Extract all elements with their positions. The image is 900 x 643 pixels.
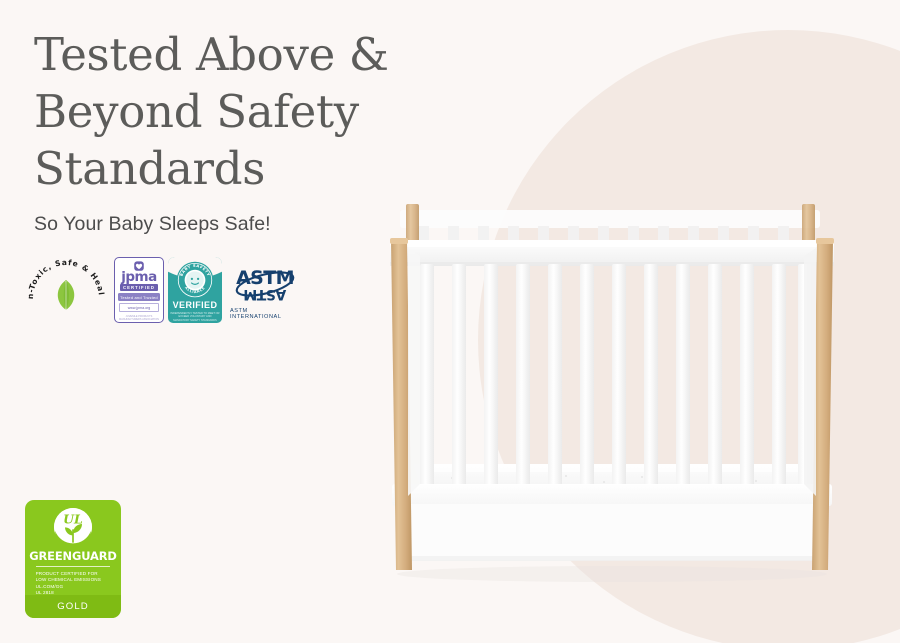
page-title: Tested Above & Beyond Safety Standards <box>34 26 454 197</box>
certification-badge-non-toxic: Non-Toxic, Safe & Healthy <box>22 250 110 329</box>
headline-block: Tested Above & Beyond Safety Standards S… <box>34 26 454 236</box>
certification-badge-row: Non-Toxic, Safe & Healthy jpma CERTIFIED… <box>22 250 300 329</box>
jpma-wordmark: jpma <box>121 271 156 284</box>
astm-caption: ASTM INTERNATIONAL <box>230 308 300 320</box>
astm-orbit-icon: ASTM ASTM <box>234 259 296 307</box>
ul-leaf-icon: UL <box>53 507 93 547</box>
greenguard-fine-print: PRODUCT CERTIFIED FOR LOW CHEMICAL EMISS… <box>36 571 111 597</box>
product-image-mini-crib <box>362 196 862 596</box>
greenguard-tier-band: GOLD <box>25 595 121 618</box>
certification-badge-astm: ASTM ASTM ASTM INTERNATIONAL <box>230 259 300 321</box>
leaf-icon: Non-Toxic, Safe & Healthy <box>22 250 110 324</box>
page-subtitle: So Your Baby Sleeps Safe! <box>34 213 454 236</box>
jpma-url: www.jpma.org <box>119 303 158 312</box>
marketing-banner: Tested Above & Beyond Safety Standards S… <box>0 0 900 643</box>
greenguard-gold-badge: UL GREENGUARD PRODUCT CERTIFIED FOR LOW … <box>25 500 121 618</box>
jpma-fine-print: JUVENILE PRODUCTS MANUFACTURERS ASSOCIAT… <box>117 315 160 322</box>
certification-badge-jpma: jpma CERTIFIED Tested and Trusted www.jp… <box>114 257 164 323</box>
bsa-fine-print: INDEPENDENTLY TESTED TO MEET OR EXCEED V… <box>170 312 220 323</box>
certification-badge-baby-safety-alliance: BABY SAFETY ALLIANCE VERIFIED INDEPENDEN… <box>168 257 222 323</box>
baby-face-seal-icon: BABY SAFETY ALLIANCE <box>174 261 216 299</box>
greenguard-divider <box>36 566 111 567</box>
jpma-certified-label: CERTIFIED <box>120 284 158 291</box>
greenguard-title: GREENGUARD <box>29 549 117 563</box>
jpma-tagline: Tested and Trusted <box>118 293 160 301</box>
bsa-status-label: VERIFIED <box>173 300 218 310</box>
greenguard-tier-label: GOLD <box>57 601 89 612</box>
